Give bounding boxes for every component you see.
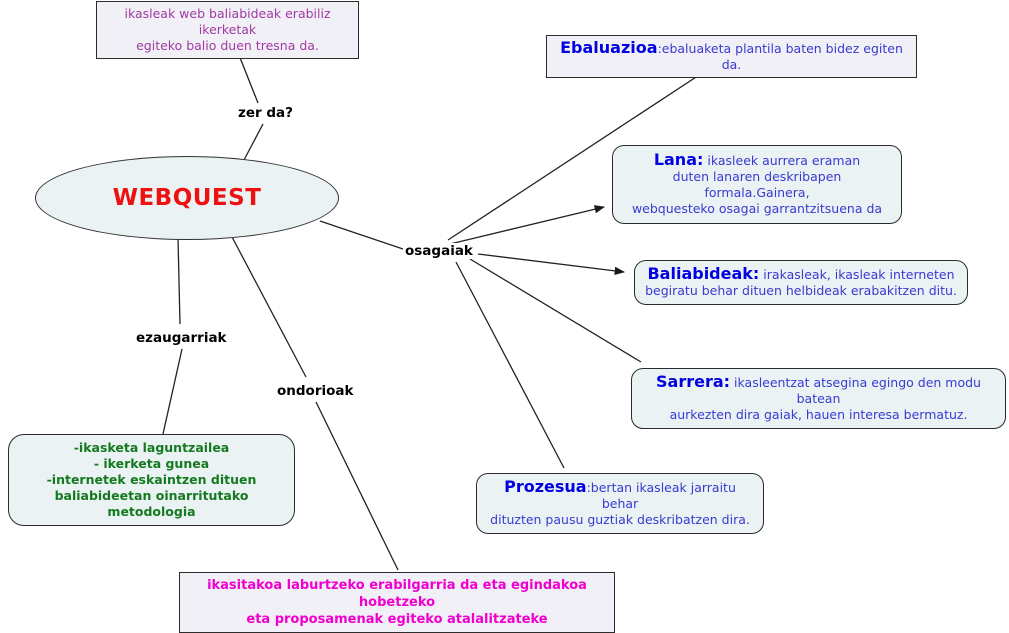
- node-sarrera-line1-text: ikasleentzat atsegina egingo den modu ba…: [730, 375, 981, 406]
- node-ezaugarriak-line4: baliabideetan oinarritutako metodologia: [15, 488, 288, 520]
- edge-label-zer-da: zer da?: [236, 105, 295, 121]
- node-lana[interactable]: Lana: ikasleek aurrera eraman duten lana…: [612, 145, 902, 224]
- center-node-webquest[interactable]: WEBQUEST: [35, 156, 339, 240]
- node-ezaugarriak-line3: -internetek eskaintzen dituen: [15, 472, 288, 488]
- node-ondorioak-line2: eta proposamenak egiteko atalalitzateke: [186, 611, 608, 628]
- node-lana-line2: duten lanaren deskribapen formala.Gainer…: [621, 169, 893, 201]
- node-lana-line1: Lana: ikasleek aurrera eraman: [621, 152, 893, 169]
- node-baliabideak-line1-text: irakasleak, ikasleak interneten: [759, 267, 954, 282]
- node-ezaugarriak-line1: -ikasketa laguntzailea: [15, 440, 288, 456]
- node-lana-line1-text: ikasleek aurrera eraman: [703, 153, 860, 168]
- edge-label-ezaugarriak: ezaugarriak: [134, 330, 229, 346]
- node-definition-line2: egiteko balio duen tresna da.: [103, 38, 352, 54]
- node-ondorioak[interactable]: ikasitakoa laburtzeko erabilgarria da et…: [179, 572, 615, 633]
- node-baliabideak-line1: Baliabideak: irakasleak, ikasleak intern…: [643, 266, 959, 283]
- node-ebaluazioa-text: Ebaluazioa:ebaluaketa plantila baten bid…: [553, 40, 910, 73]
- node-sarrera[interactable]: Sarrera: ikasleentzat atsegina egingo de…: [631, 368, 1006, 429]
- node-prozesua-line1: Prozesua:bertan ikasleak jarraitu behar: [485, 479, 755, 512]
- node-prozesua-line1-text: :bertan ikasleak jarraitu behar: [587, 480, 736, 511]
- node-prozesua-lead: Prozesua: [504, 477, 586, 496]
- node-ezaugarriak-line2: - ikerketa gunea: [15, 456, 288, 472]
- node-baliabideak-line2: begiratu behar dituen helbideak erabakit…: [643, 283, 959, 299]
- node-lana-lead: Lana:: [654, 150, 704, 169]
- node-baliabideak-lead: Baliabideak:: [647, 264, 759, 283]
- node-prozesua[interactable]: Prozesua:bertan ikasleak jarraitu behar …: [476, 473, 764, 534]
- edge-label-ondorioak: ondorioak: [275, 383, 355, 399]
- edge-label-osagaiak: osagaiak: [403, 243, 475, 259]
- center-node-label: WEBQUEST: [113, 185, 262, 211]
- node-lana-line3: webquesteko osagai garrantzitsuena da: [621, 201, 893, 217]
- node-sarrera-line1: Sarrera: ikasleentzat atsegina egingo de…: [640, 374, 997, 407]
- node-ebaluazioa-lead: Ebaluazioa: [560, 38, 657, 57]
- node-sarrera-line2: aurkezten dira gaiak, hauen interesa ber…: [640, 407, 997, 423]
- node-sarrera-lead: Sarrera:: [656, 372, 730, 391]
- node-baliabideak[interactable]: Baliabideak: irakasleak, ikasleak intern…: [634, 260, 968, 305]
- node-prozesua-line2: dituzten pausu guztiak deskribatzen dira…: [485, 512, 755, 528]
- diagram-canvas: WEBQUEST zer da? osagaiak ezaugarriak on…: [0, 0, 1009, 611]
- node-definition-line1: ikasleak web baliabideak erabiliz ikerke…: [103, 6, 352, 38]
- node-ezaugarriak[interactable]: -ikasketa laguntzailea - ikerketa gunea …: [8, 434, 295, 526]
- node-ondorioak-line1: ikasitakoa laburtzeko erabilgarria da et…: [186, 577, 608, 611]
- node-definition[interactable]: ikasleak web baliabideak erabiliz ikerke…: [96, 1, 359, 59]
- node-ebaluazioa[interactable]: Ebaluazioa:ebaluaketa plantila baten bid…: [546, 35, 917, 78]
- node-ebaluazioa-body: :ebaluaketa plantila baten bidez egiten …: [658, 41, 903, 72]
